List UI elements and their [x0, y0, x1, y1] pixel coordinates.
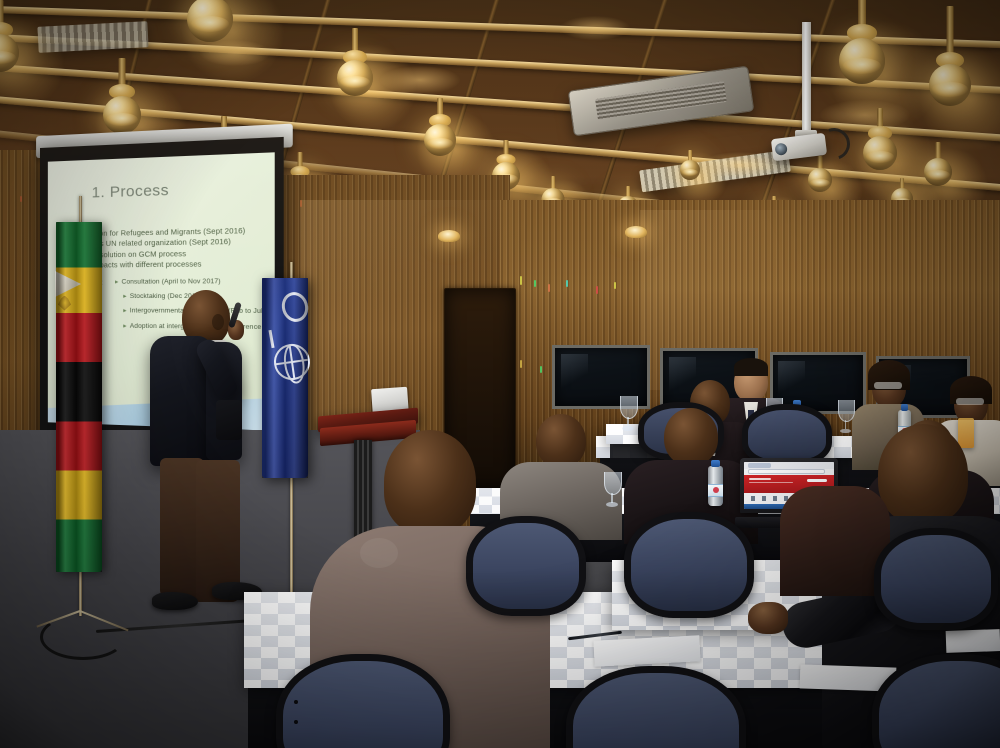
wall-lamp	[625, 226, 647, 238]
attendee-head	[384, 430, 476, 534]
photo-scene: 1. Process NY Declaration for Refugees a…	[0, 0, 1000, 748]
eyeglasses	[874, 382, 902, 389]
projector-pole	[802, 22, 811, 134]
slide-title: 1. Process	[92, 182, 169, 202]
wall-lamp	[438, 230, 460, 242]
water-bottle[interactable]	[708, 466, 723, 506]
chair[interactable]	[624, 512, 754, 618]
juice-glass[interactable]	[958, 418, 974, 448]
notepaper[interactable]	[593, 635, 700, 667]
wine-glass[interactable]	[838, 400, 853, 434]
chair[interactable]	[874, 528, 998, 630]
presenter-trousers-right	[196, 460, 240, 602]
attendee-head	[878, 424, 968, 524]
attendee-hand	[748, 602, 788, 634]
slide-subbullet: Consultation (April to Nov 2017)	[109, 276, 275, 287]
flag-iom	[262, 278, 308, 478]
chair[interactable]	[466, 516, 586, 616]
notepaper[interactable]	[946, 629, 1000, 653]
wine-glass[interactable]	[620, 396, 636, 432]
projector-lens	[774, 143, 787, 156]
flag-zimbabwe	[56, 222, 102, 572]
presenter-shoe-left	[152, 592, 198, 610]
chair[interactable]	[742, 404, 832, 466]
wine-glass[interactable]	[604, 472, 620, 508]
air-conditioner-unit	[568, 66, 755, 137]
eyeglasses	[956, 398, 984, 405]
